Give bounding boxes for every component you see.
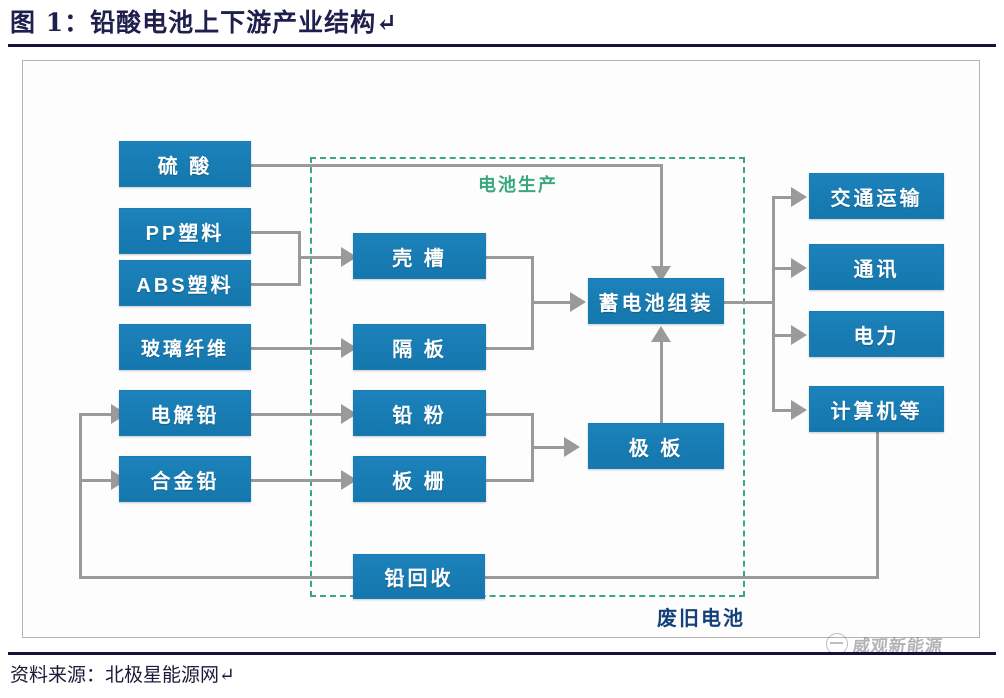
connector-shell-out — [486, 256, 534, 259]
connector-abs-out — [251, 283, 301, 286]
connector-recycling-to-alloy — [79, 479, 114, 482]
arrowhead-into-electric-power — [791, 325, 807, 345]
connector-recycling-riser — [79, 413, 82, 579]
node-plate[interactable]: 极 板 — [588, 423, 724, 469]
arrowhead-into-communication — [791, 258, 807, 278]
connector-leadpowder-out — [486, 413, 534, 416]
production-zone-border — [310, 157, 745, 597]
arrowhead-into-plate — [564, 437, 580, 457]
node-electric-power[interactable]: 电力 — [809, 311, 944, 357]
node-alloy-lead[interactable]: 合金铅 — [119, 456, 251, 502]
connector-plastics-to-shell — [298, 256, 344, 259]
arrowhead-into-assembly-bottom — [651, 326, 671, 342]
node-electrolytic-lead[interactable]: 电解铅 — [119, 390, 251, 436]
connector-separator-out — [486, 347, 534, 350]
node-sulfuric-acid[interactable]: 硫 酸 — [119, 141, 251, 187]
footer-divider — [8, 652, 996, 655]
connector-recycling-to-electrolytic — [79, 413, 114, 416]
node-grid-plate[interactable]: 板 栅 — [353, 456, 486, 502]
node-abs-plastic[interactable]: ABS塑料 — [119, 260, 251, 306]
figure-caption: 图 1：铅酸电池上下游产业结构↵ — [10, 4, 994, 44]
connector-waste-to-recycling — [485, 576, 879, 579]
connector-assembly-out — [723, 301, 775, 304]
arrowhead-into-computer — [791, 400, 807, 420]
node-lead-recycling[interactable]: 铅回收 — [353, 554, 485, 599]
figure-frame: 电池生产 废旧电池 — [22, 60, 980, 638]
node-transport[interactable]: 交通运输 — [809, 173, 944, 219]
connector-alloylead-to-grid — [251, 479, 344, 482]
production-zone-label: 电池生产 — [478, 171, 558, 197]
arrowhead-into-assembly-left — [570, 292, 586, 312]
connector-sulfuric-to-assembly-h — [251, 164, 663, 167]
node-computer-etc[interactable]: 计算机等 — [809, 386, 944, 432]
connector-grid-out — [486, 479, 534, 482]
node-battery-assembly[interactable]: 蓄电池组装 — [588, 278, 724, 324]
source-text: 资料来源：北极星能源网↵ — [10, 660, 235, 687]
caption-divider — [8, 44, 996, 47]
arrowhead-into-transport — [791, 187, 807, 207]
connector-merge-to-plate — [531, 446, 567, 449]
node-glass-fiber[interactable]: 玻璃纤维 — [119, 324, 251, 370]
connector-recycling-out-left — [79, 576, 355, 579]
node-pp-plastic[interactable]: PP塑料 — [119, 208, 251, 254]
connector-merge-to-assembly — [531, 301, 573, 304]
node-shell-tank[interactable]: 壳 槽 — [353, 233, 486, 279]
waste-battery-label: 废旧电池 — [657, 602, 745, 631]
connector-pp-out — [251, 231, 301, 234]
connector-plate-to-assembly — [660, 336, 663, 426]
node-communication[interactable]: 通讯 — [809, 244, 944, 290]
connector-glassfiber-to-separator — [251, 347, 344, 350]
node-lead-powder[interactable]: 铅 粉 — [353, 390, 486, 436]
caption-text: 图 1：铅酸电池上下游产业结构↵ — [10, 4, 994, 42]
connector-application-bus — [772, 196, 775, 411]
connector-sulfuric-to-assembly-v — [660, 164, 663, 269]
connector-computer-down — [876, 429, 879, 579]
connector-electrolytic-to-leadpowder — [251, 413, 344, 416]
node-separator[interactable]: 隔 板 — [353, 324, 486, 370]
